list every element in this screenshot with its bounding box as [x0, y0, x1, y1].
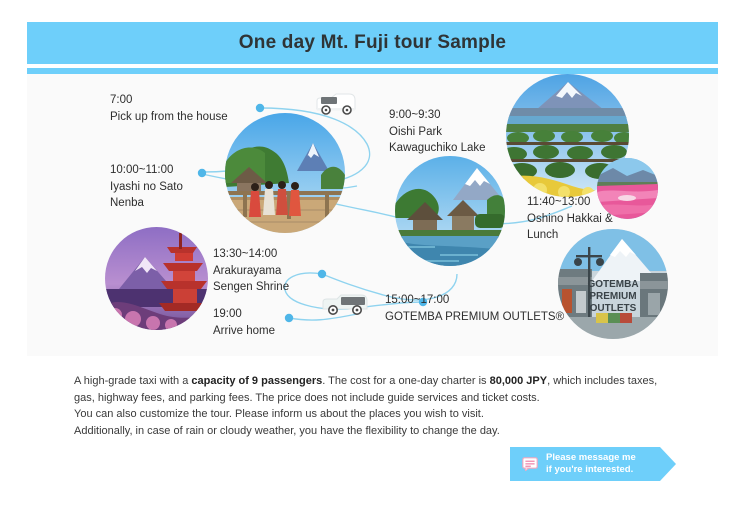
notes-price-highlight: 80,000 JPY: [490, 375, 548, 387]
itinerary-label-oshino-hakkai: 11:40~13:00 Oshino Hakkai & Lunch: [527, 194, 613, 244]
svg-text:GOTEMBA: GOTEMBA: [587, 279, 638, 290]
itinerary-label-arrive-home: 19:00 Arrive home: [213, 306, 275, 339]
taxi-icon-bottom: [317, 289, 373, 317]
notes-capacity-highlight: capacity of 9 passengers: [191, 375, 322, 387]
flow-node-arakurayama: [318, 270, 326, 278]
notes-line1-c: , which includes taxes,: [547, 375, 657, 387]
chat-bubble-icon: [522, 457, 538, 471]
message-cta-label: Please message me if you're interested.: [546, 452, 636, 477]
itinerary-label-arakurayama: 13:30~14:00 Arakurayama Sengen Shrine: [213, 246, 289, 296]
flow-node-pickup: [256, 104, 264, 112]
notes-line-4: Additionally, in case of rain or cloudy …: [74, 423, 674, 440]
itinerary-label-iyashi-no-sato: 10:00~11:00 Iyashi no Sato Nenba: [110, 162, 183, 212]
photo-arakurayama: [105, 227, 208, 330]
page-root: One day Mt. Fuji tour Sample .fl{fill:no…: [0, 0, 745, 516]
flow-node-arrive-home: [285, 314, 293, 322]
photo-oshino-hakkai: [395, 156, 505, 266]
itinerary-label-pickup: 7:00 Pick up from the house: [110, 92, 228, 125]
svg-text:OUTLETS: OUTLETS: [590, 303, 637, 314]
itinerary-canvas: .fl{fill:none;stroke:#8fd3ef;stroke-widt…: [27, 74, 718, 356]
message-cta-button[interactable]: Please message me if you're interested.: [510, 447, 660, 481]
taxi-icon-top: [309, 90, 361, 116]
notes-line-1: A high-grade taxi with a capacity of 9 p…: [74, 373, 674, 390]
flow-node-iyashi: [198, 169, 206, 177]
itinerary-label-gotemba: 15:00~17:00 GOTEMBA PREMIUM OUTLETS®: [385, 292, 564, 325]
svg-text:PREMIUM: PREMIUM: [589, 291, 636, 302]
itinerary-label-oishi-park: 9:00~9:30 Oishi Park Kawaguchiko Lake: [389, 107, 486, 157]
header-bar: One day Mt. Fuji tour Sample: [27, 22, 718, 64]
page-title: One day Mt. Fuji tour Sample: [239, 32, 506, 54]
photo-iyashi-no-sato: [225, 113, 345, 233]
notes-line1-a: A high-grade taxi with a: [74, 375, 191, 387]
notes-line-3: You can also customize the tour. Please …: [74, 406, 674, 423]
photo-gotemba: GOTEMBA PREMIUM OUTLETS: [558, 229, 668, 339]
notes-block: A high-grade taxi with a capacity of 9 p…: [74, 373, 674, 439]
notes-line-2: gas, highway fees, and parking fees. The…: [74, 390, 674, 407]
notes-line1-b: . The cost for a one-day charter is: [322, 375, 489, 387]
message-cta-arrow: [660, 447, 676, 481]
